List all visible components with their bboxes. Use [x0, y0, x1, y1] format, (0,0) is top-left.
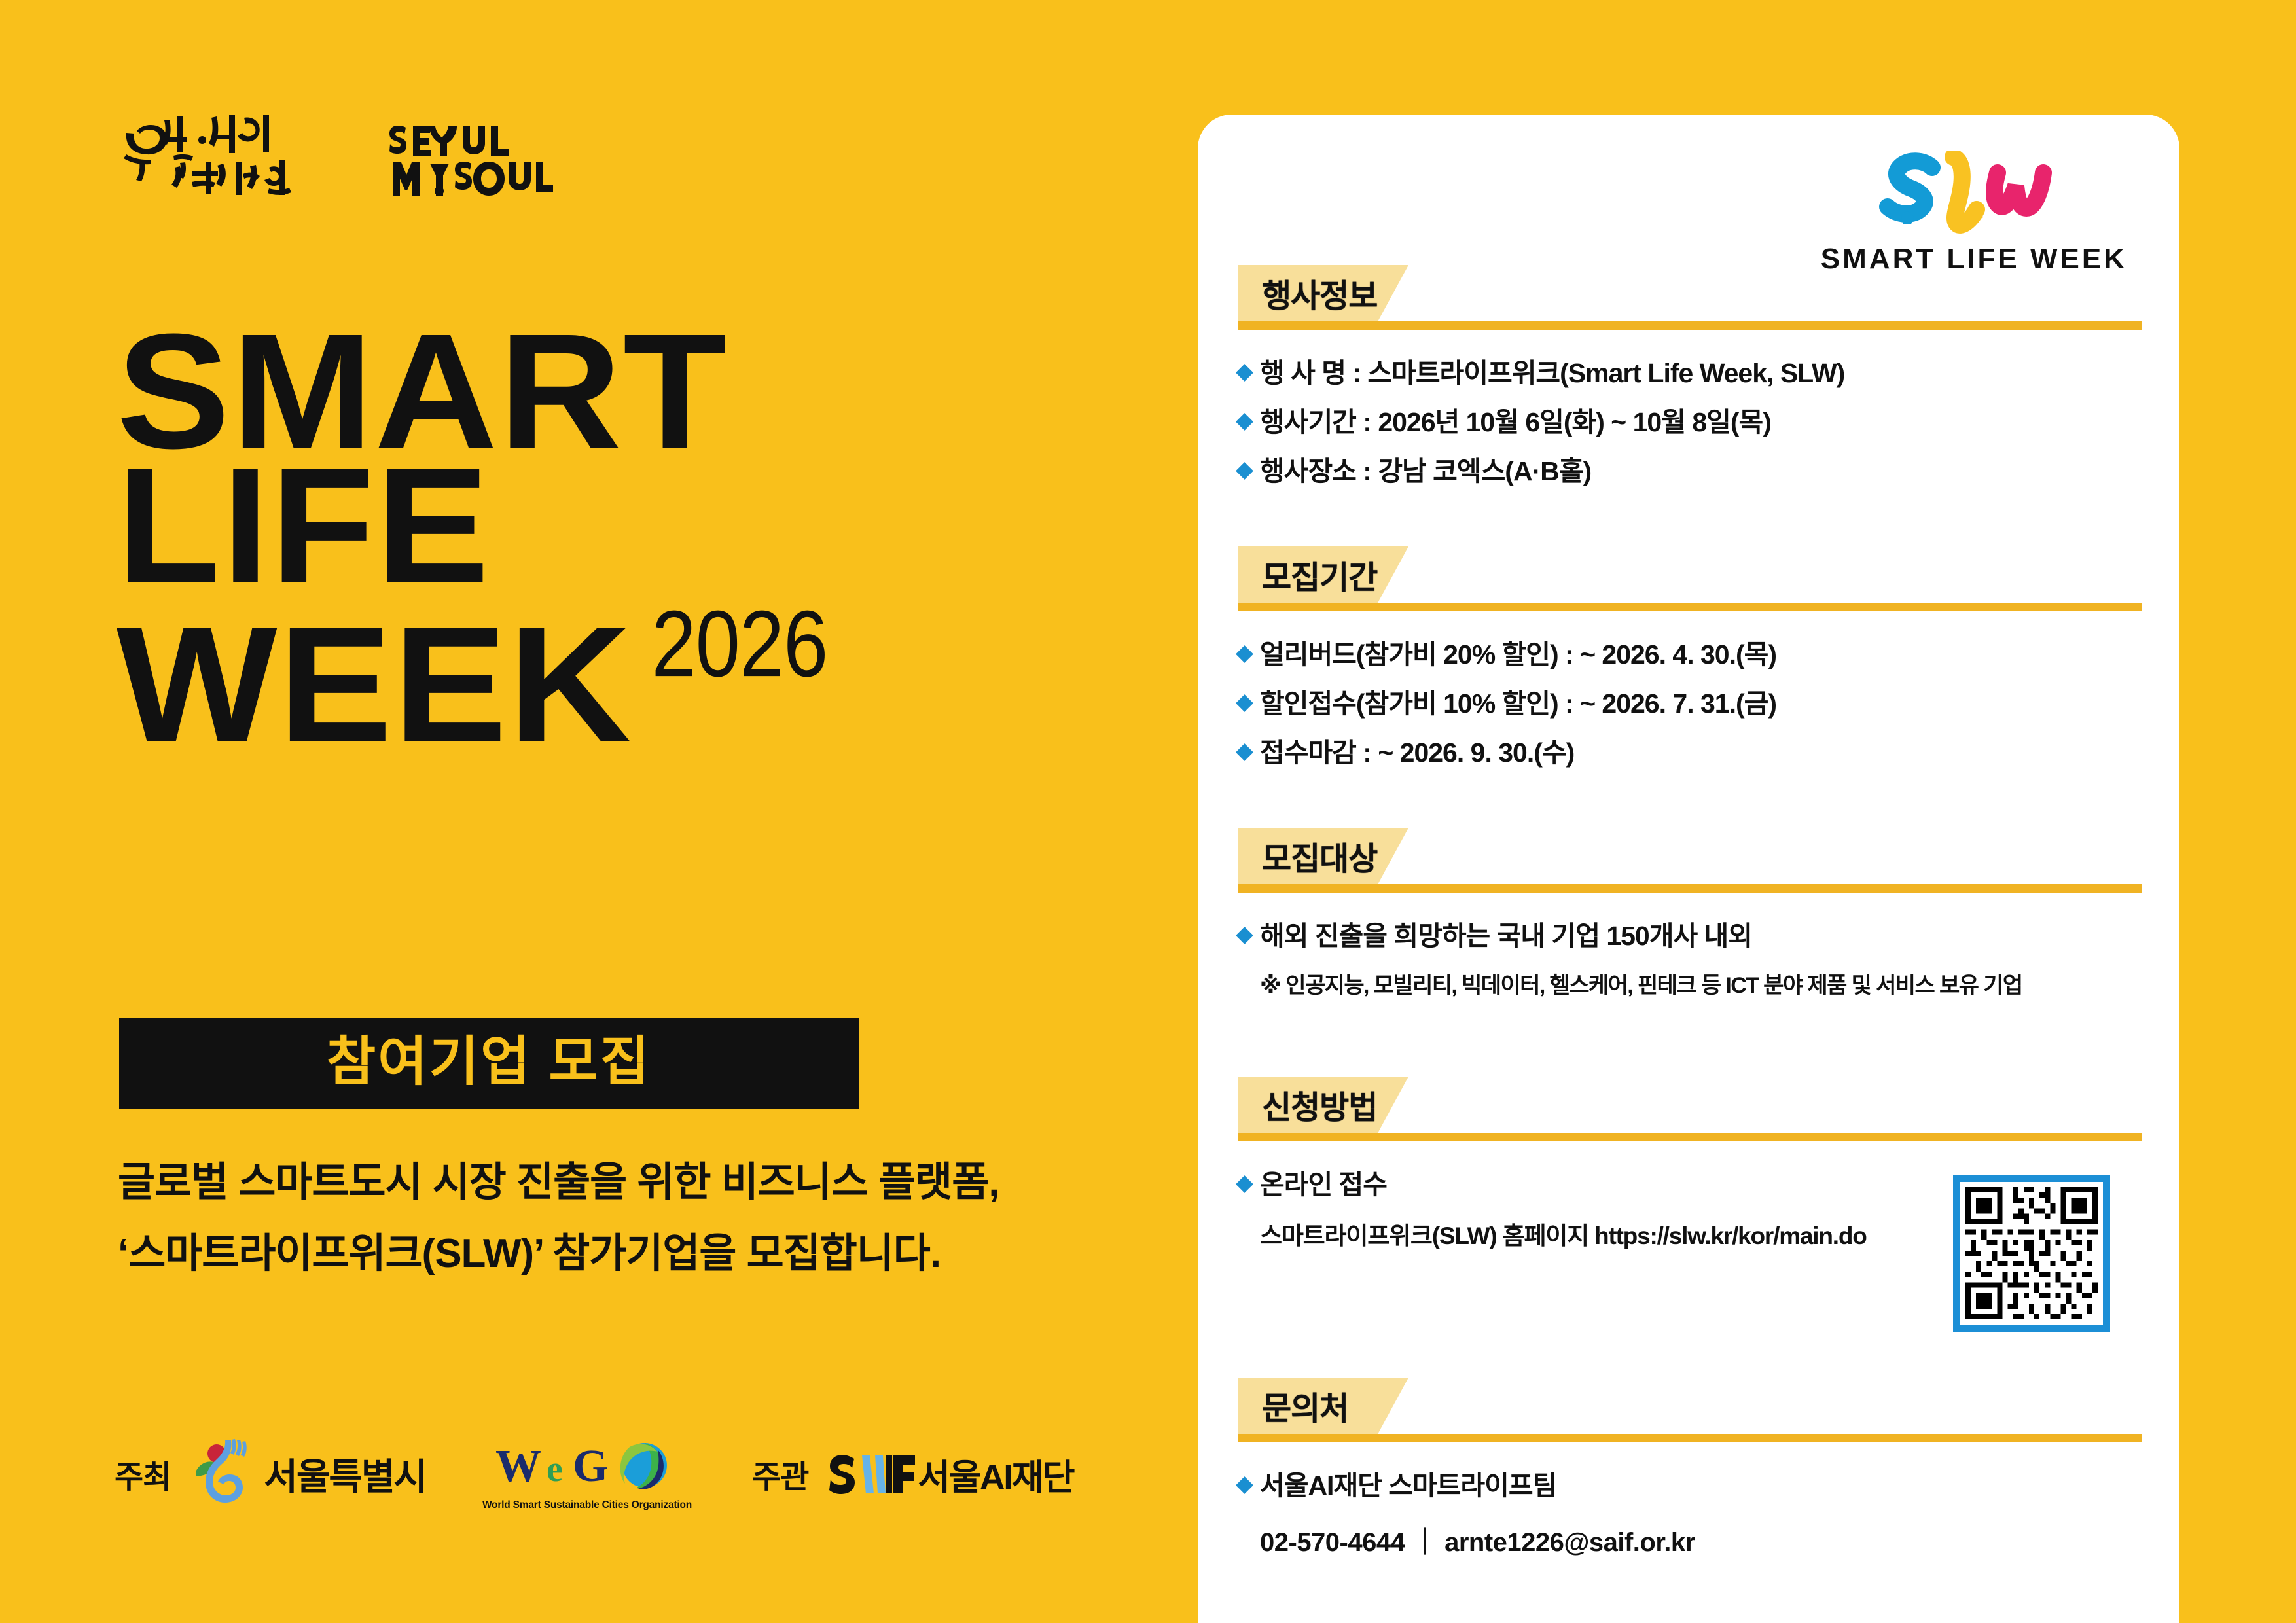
info-row: 해외 진출을 희망하는 국내 기업 150개사 내외	[1238, 918, 2142, 954]
section-tab: 문의처	[1238, 1378, 2142, 1451]
qr-code-image	[1965, 1187, 2098, 1319]
diamond-bullet-icon	[1236, 364, 1253, 382]
diamond-bullet-icon	[1236, 1476, 1253, 1494]
section-tab: 모집대상	[1238, 828, 2142, 901]
section-tab: 행사정보	[1238, 265, 2142, 338]
wego-logo: W e G World Smart Sustainable Cities Org…	[482, 1436, 692, 1511]
seoul-city-emblem-icon	[193, 1438, 252, 1510]
section-rows: 행 사 명 : 스마트라이프위크(Smart Life Week, SLW) 행…	[1238, 355, 2142, 490]
diamond-bullet-icon	[1236, 743, 1253, 761]
section-tab: 신청방법	[1238, 1077, 2142, 1150]
saif-mark-icon	[828, 1448, 916, 1499]
svg-text:W: W	[495, 1441, 541, 1491]
wego-subtitle: World Smart Sustainable Cities Organizat…	[482, 1499, 692, 1511]
tab-rule	[1238, 884, 2142, 893]
poster-root: SMART LIFE WEEK2026 참여기업 모집 글로벌 스마트도시 시장…	[0, 0, 2296, 1623]
seoul-my-soul-logo	[389, 118, 553, 200]
info-row-text: 행 사 명 : 스마트라이프위크(Smart Life Week, SLW)	[1260, 355, 1844, 391]
info-row: 행 사 명 : 스마트라이프위크(Smart Life Week, SLW)	[1238, 355, 2142, 391]
section-target: 모집대상 해외 진출을 희망하는 국내 기업 150개사 내외 ※ 인공지능, …	[1238, 828, 2142, 999]
poster-title: SMART LIFE WEEK2026	[117, 324, 1098, 751]
svg-text:G: G	[573, 1441, 608, 1491]
tab-rule	[1238, 603, 2142, 611]
info-row-text: 얼리버드(참가비 20% 할인) : ~ 2026. 4. 30.(목)	[1260, 637, 1776, 673]
seoul-brand-row	[115, 111, 553, 200]
info-row-text: 해외 진출을 희망하는 국내 기업 150개사 내외	[1260, 918, 1752, 954]
tab-rule	[1238, 1133, 2142, 1141]
info-row: 할인접수(참가비 10% 할인) : ~ 2026. 7. 31.(금)	[1238, 686, 2142, 722]
organizer-strip: 주최 서울특별시 W e G	[115, 1436, 1073, 1511]
section-tab-label: 문의처	[1262, 1378, 1348, 1434]
slw-logo: SMART LIFE WEEK	[1821, 151, 2127, 276]
tagline: 글로벌 스마트도시 시장 진출을 위한 비즈니스 플랫폼, ‘스마트라이프위크(…	[118, 1158, 1100, 1301]
section-tab-label: 신청방법	[1262, 1077, 1377, 1133]
contact-details[interactable]: 02-570-4644 ｜ arnte1226@saif.or.kr	[1260, 1521, 2142, 1559]
target-note: ※ 인공지능, 모빌리티, 빅데이터, 헬스케어, 핀테크 등 ICT 분야 제…	[1260, 967, 2142, 999]
info-row-text: 접수마감 : ~ 2026. 9. 30.(수)	[1260, 735, 1574, 771]
section-contact: 문의처 서울AI재단 스마트라이프팀 02-570-4644 ｜ arnte12…	[1238, 1378, 2142, 1559]
wego-wordmark-icon: W e G	[495, 1436, 679, 1497]
seoul-slogan-brush-logo	[115, 111, 311, 200]
seoul-city-logo: 서울특별시	[193, 1438, 426, 1510]
section-tab-label: 행사정보	[1262, 265, 1377, 321]
host-name: 서울특별시	[264, 1448, 426, 1501]
title-year: 2026	[651, 563, 827, 726]
section-rows: 해외 진출을 희망하는 국내 기업 150개사 내외 ※ 인공지능, 모빌리티,…	[1238, 918, 2142, 999]
info-row: 얼리버드(참가비 20% 할인) : ~ 2026. 4. 30.(목)	[1238, 637, 2142, 673]
info-row: 행사기간 : 2026년 10월 6일(화) ~ 10월 8일(목)	[1238, 404, 2142, 440]
diamond-bullet-icon	[1236, 1175, 1253, 1193]
saif-logo: 서울AI재단	[828, 1448, 1073, 1500]
section-application-period: 모집기간 얼리버드(참가비 20% 할인) : ~ 2026. 4. 30.(목…	[1238, 546, 2142, 784]
section-tab-label: 모집기간	[1262, 546, 1377, 603]
info-row-text: 온라인 접수	[1260, 1167, 1387, 1203]
info-row-text: 행사기간 : 2026년 10월 6일(화) ~ 10월 8일(목)	[1260, 404, 1771, 440]
recruitment-badge: 참여기업 모집	[119, 1018, 859, 1109]
diamond-bullet-icon	[1236, 694, 1253, 712]
info-row: 서울AI재단 스마트라이프팀	[1238, 1468, 2142, 1504]
section-how-to-apply: 신청방법 온라인 접수 스마트라이프위크(SLW) 홈페이지 https://s…	[1238, 1077, 2142, 1251]
title-line-3: WEEK2026	[117, 592, 1138, 751]
section-tab: 모집기간	[1238, 546, 2142, 620]
info-panel: SMART LIFE WEEK 행사정보 행 사 명 : 스마트라이프위크(Sm…	[1198, 115, 2179, 1623]
diamond-bullet-icon	[1236, 413, 1253, 431]
host-label: 주최	[115, 1451, 171, 1497]
qr-code[interactable]	[1953, 1175, 2110, 1332]
info-row-text: 할인접수(참가비 10% 할인) : ~ 2026. 7. 31.(금)	[1260, 686, 1776, 722]
section-tab-label: 모집대상	[1262, 828, 1377, 884]
left-column: SMART LIFE WEEK2026 참여기업 모집 글로벌 스마트도시 시장…	[0, 0, 1198, 1623]
info-row: 접수마감 : ~ 2026. 9. 30.(수)	[1238, 735, 2142, 771]
section-event-info: 행사정보 행 사 명 : 스마트라이프위크(Smart Life Week, S…	[1238, 265, 2142, 503]
tab-rule	[1238, 321, 2142, 330]
info-row-text: 서울AI재단 스마트라이프팀	[1260, 1468, 1556, 1504]
info-row: 행사장소 : 강남 코엑스(A·B홀)	[1238, 454, 2142, 490]
info-row-text: 행사장소 : 강남 코엑스(A·B홀)	[1260, 454, 1591, 490]
tagline-line-2: ‘스마트라이프위크(SLW)’ 참가기업을 모집합니다.	[118, 1230, 1100, 1277]
slw-mark-icon	[1869, 151, 2079, 236]
section-rows: 서울AI재단 스마트라이프팀 02-570-4644 ｜ arnte1226@s…	[1238, 1468, 2142, 1559]
diamond-bullet-icon	[1236, 462, 1253, 480]
title-line-2: LIFE	[117, 458, 1138, 592]
recruitment-badge-label: 참여기업 모집	[327, 1035, 651, 1089]
tab-rule	[1238, 1434, 2142, 1442]
svg-text:e: e	[547, 1449, 563, 1489]
diamond-bullet-icon	[1236, 645, 1253, 663]
section-rows: 얼리버드(참가비 20% 할인) : ~ 2026. 4. 30.(목) 할인접…	[1238, 637, 2142, 771]
diamond-bullet-icon	[1236, 927, 1253, 944]
operator-label: 주관	[752, 1451, 808, 1497]
tagline-line-1: 글로벌 스마트도시 시장 진출을 위한 비즈니스 플랫폼,	[118, 1158, 1100, 1206]
operator-name: 서울AI재단	[918, 1448, 1073, 1500]
